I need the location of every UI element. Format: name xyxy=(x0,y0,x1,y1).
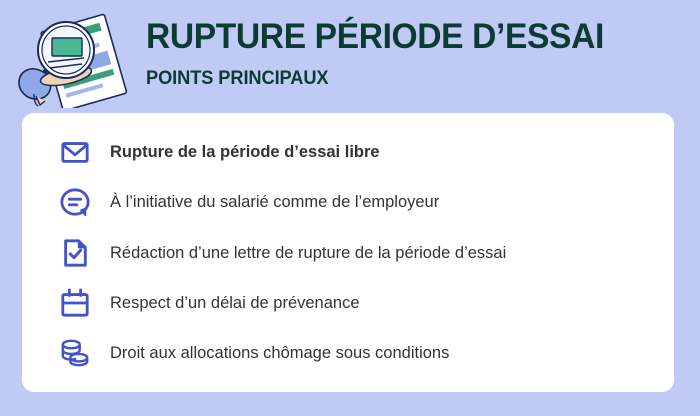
header-text-block: RUPTURE PÉRIODE D’ESSAI POINTS PRINCIPAU… xyxy=(146,18,686,90)
calendar-icon xyxy=(58,286,92,320)
list-item: Rupture de la période d’essai libre xyxy=(22,127,674,177)
document-check-icon xyxy=(58,236,92,270)
page-subtitle: POINTS PRINCIPAUX xyxy=(146,68,664,90)
list-item: Respect d’un délai de prévenance xyxy=(22,278,674,328)
key-points-card: Rupture de la période d’essai libre À l’… xyxy=(22,113,674,392)
list-item-label: Rédaction d’une lettre de rupture de la … xyxy=(110,243,506,263)
magnifying-glass-document-illustration xyxy=(14,8,136,108)
list-item: Droit aux allocations chômage sous condi… xyxy=(22,328,674,378)
speech-bubble-icon xyxy=(58,185,92,219)
list-item: À l’initiative du salarié comme de l’emp… xyxy=(22,177,674,227)
header: RUPTURE PÉRIODE D’ESSAI POINTS PRINCIPAU… xyxy=(0,0,700,113)
list-item-label: Rupture de la période d’essai libre xyxy=(110,142,380,162)
coins-icon xyxy=(58,336,92,370)
list-item-label: Droit aux allocations chômage sous condi… xyxy=(110,343,449,363)
envelope-icon xyxy=(58,135,92,169)
list-item-label: Respect d’un délai de prévenance xyxy=(110,293,360,313)
list-item-label: À l’initiative du salarié comme de l’emp… xyxy=(110,192,439,212)
infographic-root: RUPTURE PÉRIODE D’ESSAI POINTS PRINCIPAU… xyxy=(0,0,700,416)
page-title: RUPTURE PÉRIODE D’ESSAI xyxy=(146,18,664,56)
list-item: Rédaction d’une lettre de rupture de la … xyxy=(22,228,674,278)
